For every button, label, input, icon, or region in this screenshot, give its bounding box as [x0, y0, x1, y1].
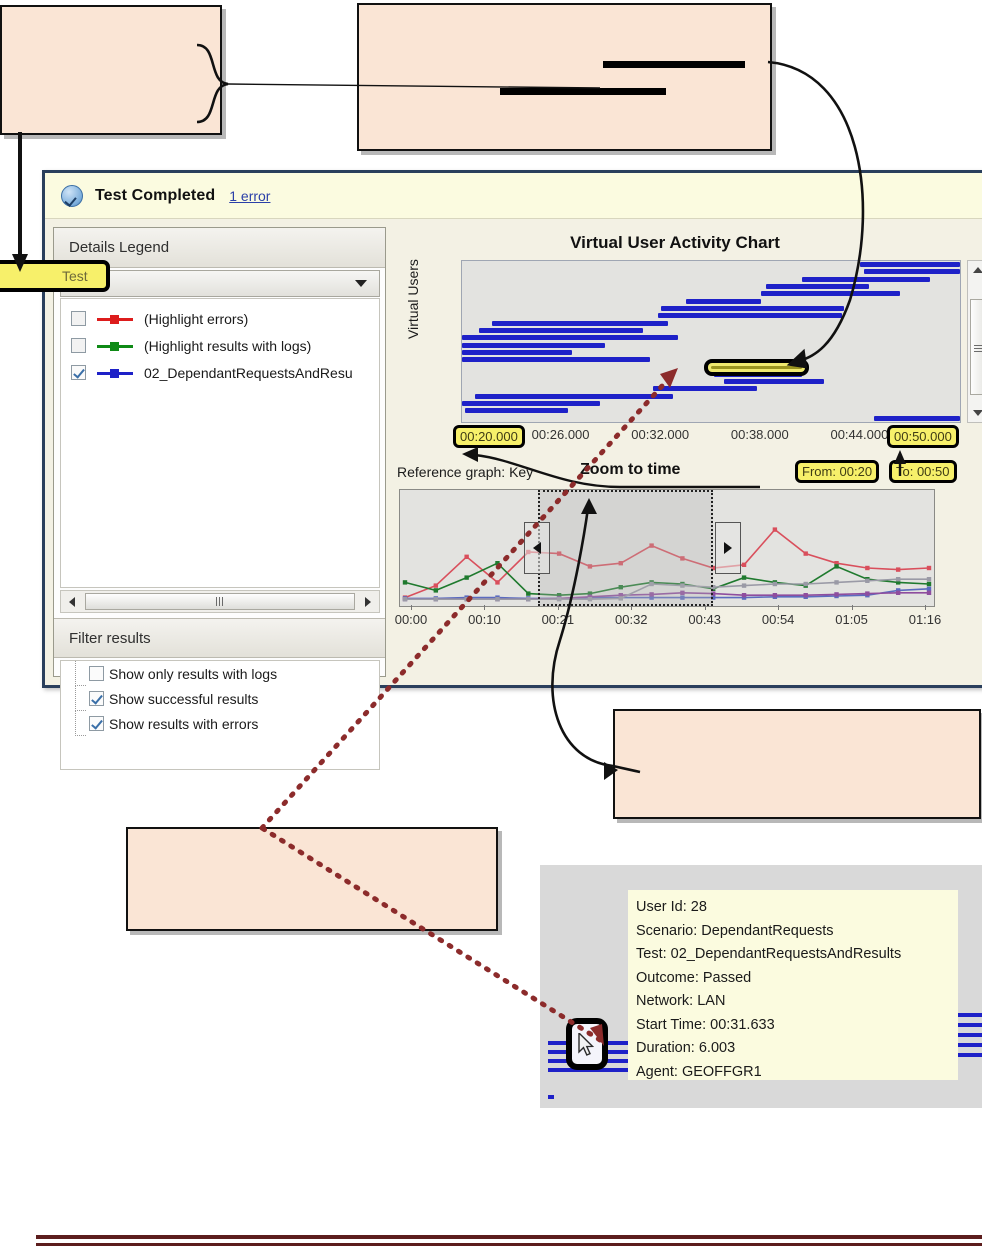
x-tick-mark — [484, 605, 485, 610]
gantt-bar[interactable] — [475, 394, 673, 399]
legend-color-marker — [97, 313, 133, 325]
status-text: Test Completed — [95, 187, 215, 205]
legend-item-label: (Highlight results with logs) — [144, 338, 311, 354]
data-point — [434, 583, 438, 587]
data-point — [742, 593, 746, 597]
callout-mid-right — [613, 709, 981, 819]
data-point — [773, 582, 777, 586]
tooltip-line: Scenario: DependantRequests — [636, 920, 958, 944]
filter-checkbox[interactable] — [89, 716, 104, 731]
data-point — [742, 583, 746, 587]
legend-series-list[interactable]: (Highlight errors) (Highlight results wi… — [60, 298, 380, 588]
filter-checkbox[interactable] — [89, 666, 104, 681]
tooltip-content: User Id: 28 Scenario: DependantRequests … — [628, 890, 958, 1080]
gantt-bar[interactable] — [802, 277, 930, 282]
gantt-bar[interactable] — [874, 416, 960, 421]
data-point — [927, 587, 931, 591]
data-point — [896, 567, 900, 571]
legend-series-dropdown-value: Test — [61, 276, 355, 292]
footer-rule — [36, 1235, 982, 1239]
tooltip-line: Outcome: Passed — [636, 967, 958, 991]
data-point — [773, 527, 777, 531]
details-legend-panel: Details Legend Test (Highlight errors) (… — [53, 227, 386, 677]
filter-results-header: Filter results — [54, 618, 385, 658]
x-tick-label: 00:26.000 — [532, 427, 590, 442]
reference-graph-label: Reference graph: Key — [397, 464, 533, 480]
redaction-bar — [603, 61, 745, 68]
charts-area: Virtual User Activity Chart Virtual User… — [395, 227, 978, 679]
data-point — [896, 591, 900, 595]
data-point — [742, 563, 746, 567]
legend-item-label: 02_DependantRequestsAndResu — [144, 365, 353, 381]
legend-checkbox[interactable] — [71, 311, 86, 326]
scrollbar-thumb[interactable] — [85, 593, 355, 610]
scroll-down-icon[interactable] — [968, 404, 982, 422]
data-point — [896, 577, 900, 581]
test-results-window: Test Completed 1 error Details Legend Te… — [42, 170, 982, 688]
data-point — [526, 591, 530, 595]
data-point — [927, 566, 931, 570]
data-point — [464, 597, 468, 601]
callout-top-left — [0, 5, 222, 135]
tooltip-line: Start Time: 00:31.633 — [636, 1014, 958, 1038]
data-point — [804, 582, 808, 586]
data-point — [865, 591, 869, 595]
range-from-badge: 00:20.000 — [453, 425, 525, 448]
virtual-user-activity-title: Virtual User Activity Chart — [395, 233, 955, 253]
callout-top-right — [357, 3, 772, 151]
gantt-bar[interactable] — [686, 299, 761, 304]
legend-checkbox[interactable] — [71, 365, 86, 380]
reference-graph-xaxis: 00:0000:1000:2100:3200:4300:5401:0501:16 — [399, 609, 935, 631]
mouse-pointer-icon — [578, 1033, 596, 1057]
data-point — [742, 575, 746, 579]
gantt-bar[interactable] — [492, 321, 668, 326]
zoom-to-time-label: Zoom to time — [580, 461, 680, 479]
data-point — [927, 577, 931, 581]
filter-label: Show successful results — [109, 691, 258, 707]
filter-checkbox[interactable] — [89, 691, 104, 706]
x-tick-label: 00:32.000 — [631, 427, 689, 442]
virtual-user-activity-plot[interactable] — [461, 260, 961, 423]
gantt-bar[interactable] — [761, 291, 900, 296]
gantt-bar[interactable] — [462, 335, 678, 340]
data-point — [865, 566, 869, 570]
selected-gantt-bar[interactable] — [704, 359, 809, 376]
arrow-right-icon[interactable] — [357, 591, 379, 612]
scroll-up-icon[interactable] — [968, 261, 982, 279]
selection-handle-right[interactable] — [715, 522, 741, 574]
data-point — [495, 561, 499, 565]
gantt-bar[interactable] — [661, 306, 844, 311]
x-tick-label: 00:21 — [542, 612, 575, 627]
tooltip-line: Network: LAN — [636, 990, 958, 1014]
x-tick-label: 00:38.000 — [731, 427, 789, 442]
legend-item-label: (Highlight errors) — [144, 311, 248, 327]
gantt-bar[interactable] — [462, 343, 605, 348]
legend-color-marker — [97, 340, 133, 352]
virtual-users-axis-label: Virtual Users — [405, 239, 421, 359]
zoom-from-badge: From: 00:20 — [795, 460, 879, 483]
data-point — [434, 588, 438, 592]
scrollbar-thumb[interactable] — [970, 299, 982, 395]
data-point — [773, 593, 777, 597]
gantt-bar[interactable] — [462, 350, 572, 355]
footer-rule-secondary — [36, 1243, 982, 1246]
test-dropdown-highlight-label: Test — [62, 268, 88, 284]
data-point — [834, 564, 838, 568]
legend-checkbox[interactable] — [71, 338, 86, 353]
data-point — [927, 582, 931, 586]
x-tick-label: 00:44.000 — [830, 427, 888, 442]
gantt-bar[interactable] — [860, 262, 960, 267]
redaction-bar — [500, 88, 666, 95]
data-point — [865, 579, 869, 583]
tooltip-line: Test: 02_DependantRequestsAndResults — [636, 943, 958, 967]
data-point — [834, 592, 838, 596]
x-tick-label: 00:00 — [395, 612, 428, 627]
data-point — [403, 597, 407, 601]
filter-show-successful[interactable]: Show successful results — [61, 686, 379, 711]
data-point — [495, 597, 499, 601]
gantt-bar[interactable] — [462, 401, 600, 406]
error-link[interactable]: 1 error — [229, 188, 270, 204]
x-tick-label: 01:05 — [835, 612, 868, 627]
data-point — [834, 580, 838, 584]
data-point — [464, 575, 468, 579]
data-point — [526, 597, 530, 601]
data-point — [434, 597, 438, 601]
legend-item-highlight-errors[interactable]: (Highlight errors) — [61, 305, 379, 332]
filter-label: Show results with errors — [109, 716, 258, 732]
filter-show-only-logs[interactable]: Show only results with logs — [61, 661, 379, 686]
range-to-badge: 00:50.000 — [887, 425, 959, 448]
legend-horizontal-scrollbar[interactable] — [60, 590, 380, 613]
gantt-bar[interactable] — [462, 357, 650, 362]
gantt-bar[interactable] — [653, 386, 758, 391]
legend-item-highlight-logs[interactable]: (Highlight results with logs) — [61, 332, 379, 359]
filter-results-list: Show only results with logs Show success… — [60, 660, 380, 770]
x-tick-label: 01:16 — [909, 612, 942, 627]
gantt-bar[interactable] — [766, 284, 869, 289]
reference-graph-selection[interactable] — [538, 490, 713, 606]
chart-vertical-scrollbar[interactable] — [967, 260, 982, 423]
status-bar: Test Completed 1 error — [45, 173, 982, 219]
legend-series-dropdown[interactable]: Test — [60, 270, 380, 297]
x-tick-mark — [778, 605, 779, 610]
tooltip-line: Duration: 6.003 — [636, 1037, 958, 1061]
details-legend-header: Details Legend — [54, 228, 385, 268]
tooltip-line: User Id: 28 — [636, 896, 958, 920]
x-tick-mark — [852, 605, 853, 610]
chevron-down-icon — [355, 280, 367, 287]
filter-label: Show only results with logs — [109, 666, 277, 682]
data-point — [495, 580, 499, 584]
filter-show-errors[interactable]: Show results with errors — [61, 711, 379, 736]
arrow-left-icon[interactable] — [61, 591, 83, 612]
data-point — [927, 591, 931, 595]
legend-color-marker — [97, 367, 133, 379]
x-tick-mark — [925, 605, 926, 610]
gantt-bar[interactable] — [465, 408, 568, 413]
zoom-to-badge: To: 00:50 — [889, 460, 957, 483]
gantt-bar[interactable] — [724, 379, 824, 384]
data-point — [804, 551, 808, 555]
virtual-user-activity-xaxis: 00:20.00000:26.00000:32.00000:38.00000:4… — [461, 425, 961, 447]
x-tick-label: 00:43 — [688, 612, 721, 627]
x-tick-label: 00:54 — [762, 612, 795, 627]
gantt-bar[interactable] — [864, 269, 960, 274]
check-circle-icon — [61, 185, 83, 207]
reference-graph-plot[interactable] — [399, 489, 935, 607]
gantt-bar[interactable] — [658, 313, 842, 318]
data-point — [464, 555, 468, 559]
data-point — [403, 580, 407, 584]
data-point — [804, 593, 808, 597]
selection-handle-left[interactable] — [524, 522, 550, 574]
gantt-bar — [548, 1095, 554, 1099]
legend-item-dependant-requests[interactable]: 02_DependantRequestsAndResu — [61, 359, 379, 386]
x-tick-mark — [411, 605, 412, 610]
tooltip-line: Agent: GEOFFGR1 — [636, 1061, 958, 1085]
callout-bottom-left — [126, 827, 498, 931]
x-tick-label: 00:10 — [468, 612, 501, 627]
gantt-bar[interactable] — [479, 328, 643, 333]
tooltip-screenshot-panel: User Id: 28 Scenario: DependantRequests … — [540, 865, 982, 1108]
x-tick-label: 00:32 — [615, 612, 648, 627]
